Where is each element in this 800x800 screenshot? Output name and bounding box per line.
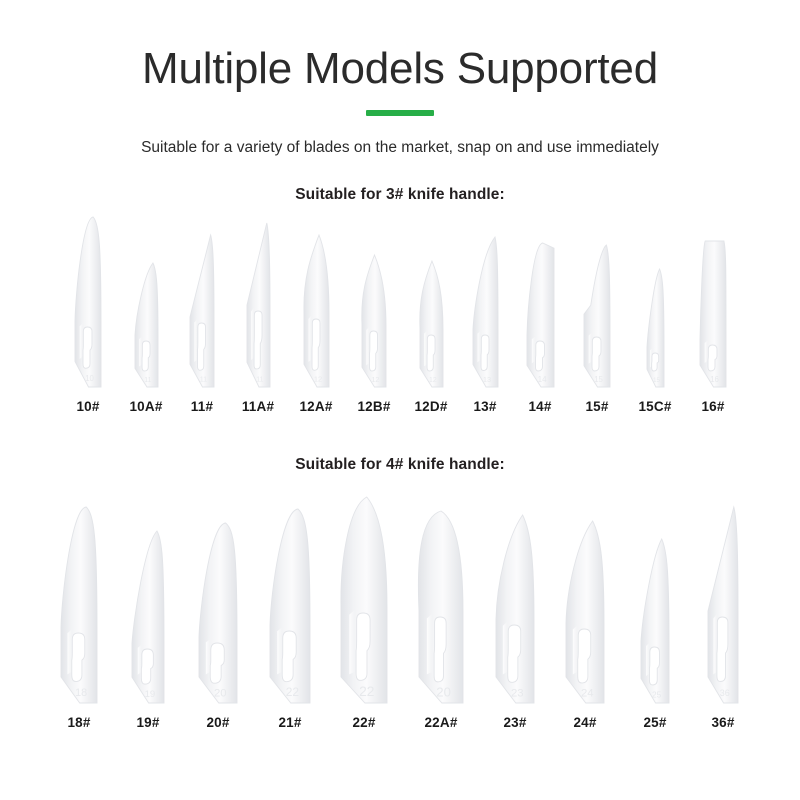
blade-item-14: 14 <box>511 214 569 390</box>
blade-highlight <box>206 639 211 674</box>
blade-item-22: 22 <box>326 484 402 706</box>
blade-highlight <box>277 627 282 674</box>
blade-engraved-number: 12 <box>371 375 379 384</box>
blade-label: 22A# <box>402 715 480 730</box>
blade-engraved-number: 11 <box>200 375 207 384</box>
blade-engraved-number: 18 <box>75 687 87 699</box>
blade-label: 15C# <box>625 399 685 414</box>
blade-item-16: 16 <box>685 214 741 390</box>
blade-highlight <box>646 643 649 676</box>
blade-item-10: 10 <box>59 214 117 390</box>
blade-graphic: 12 <box>359 252 389 390</box>
blade-item-23: 23 <box>480 484 550 706</box>
blade-label: 12B# <box>345 399 403 414</box>
blade-label: 20# <box>182 715 254 730</box>
blade-label: 10A# <box>117 399 175 414</box>
blade-highlight <box>67 629 71 674</box>
blade-highlight <box>705 340 708 362</box>
blade-item-19: 19 <box>114 484 182 706</box>
blade-engraved-number: 19 <box>145 689 156 700</box>
blade-engraved-number: 15 <box>653 378 660 384</box>
blade-graphic: 19 <box>129 528 167 706</box>
section-handle-3: Suitable for 3# knife handle: 10 <box>0 186 800 414</box>
blade-graphic: 11 <box>187 232 217 390</box>
blade-engraved-number: 16 <box>710 375 719 384</box>
blade-graphic: 13 <box>470 234 501 390</box>
blade-label: 22# <box>326 715 402 730</box>
blade-graphic: 20 <box>196 520 240 706</box>
blade-graphic: 22 <box>338 494 390 706</box>
blade-engraved-number: 12 <box>313 375 321 384</box>
blade-graphic: 11 <box>244 220 273 390</box>
blade-label-row: 18#19#20#21#22#22A#23#24#25#36# <box>0 715 800 730</box>
blade-graphic: 20 <box>416 508 466 706</box>
blade-item-20: 20 <box>182 484 254 706</box>
page-title: Multiple Models Supported <box>0 46 800 92</box>
accent-divider <box>366 110 434 116</box>
blade-graphic: 16 <box>697 238 729 390</box>
blade-highlight <box>503 622 508 675</box>
blade-highlight <box>531 337 534 364</box>
blade-engraved-number: 14 <box>537 375 547 384</box>
blade-engraved-number: 23 <box>511 687 524 699</box>
blade-highlight <box>251 307 254 359</box>
blade-item-12b: 12 <box>345 214 403 390</box>
blade-engraved-number: 24 <box>581 688 594 700</box>
blade-graphic: 25 <box>638 536 672 706</box>
blade-item-36: 36 <box>690 484 756 706</box>
page-header: Multiple Models Supported Suitable for a… <box>0 0 800 158</box>
blade-row: 10 11 <box>0 214 800 390</box>
blade-item-11a: 11 <box>229 214 287 390</box>
infographic-page: Multiple Models Supported Suitable for a… <box>0 0 800 800</box>
blade-label: 25# <box>620 715 690 730</box>
blade-engraved-number: 25 <box>652 689 662 699</box>
blade-engraved-number: 22 <box>286 685 300 699</box>
blade-row: 18 19 <box>0 484 800 706</box>
blade-label: 12D# <box>403 399 459 414</box>
blade-highlight <box>573 625 578 674</box>
blade-engraved-number: 13 <box>482 375 490 384</box>
section-heading: Suitable for 4# knife handle: <box>0 456 800 474</box>
blade-item-15: 15 <box>569 214 625 390</box>
blade-item-22a: 20 <box>402 484 480 706</box>
blade-item-12d: 12 <box>403 214 459 390</box>
blade-engraved-number: 11 <box>144 377 151 384</box>
blade-label: 24# <box>550 715 620 730</box>
blade-highlight <box>139 337 142 367</box>
blade-graphic: 14 <box>524 240 557 390</box>
blade-graphic: 15 <box>581 242 613 390</box>
blade-graphic: 24 <box>563 518 607 706</box>
blade-highlight <box>194 319 197 362</box>
blade-graphic: 22 <box>267 506 313 706</box>
blade-graphic: 10 <box>72 214 104 390</box>
blade-label-row: 10#10A#11#11A#12A#12B#12D#13#14#15#15C#1… <box>0 399 800 414</box>
blade-graphic: 18 <box>58 504 100 706</box>
section-handle-4: Suitable for 4# knife handle: 18 <box>0 456 800 730</box>
blade-engraved-number: 10 <box>85 374 94 383</box>
blade-highlight <box>427 614 432 675</box>
blade-graphic: 36 <box>705 504 741 706</box>
blade-highlight <box>366 327 369 365</box>
blade-item-13: 13 <box>459 214 511 390</box>
blade-item-10a: 11 <box>117 214 175 390</box>
blade-label: 10# <box>59 399 117 414</box>
blade-engraved-number: 11 <box>256 376 263 383</box>
blade-highlight <box>589 333 592 364</box>
blade-label: 11A# <box>229 399 287 414</box>
blade-graphic: 12 <box>301 232 332 390</box>
blade-highlight <box>349 610 355 675</box>
blade-label: 14# <box>511 399 569 414</box>
blade-graphic: 23 <box>493 512 537 706</box>
blade-graphic: 15 <box>644 266 667 390</box>
blade-item-25: 25 <box>620 484 690 706</box>
blade-label: 18# <box>44 715 114 730</box>
blade-item-11: 11 <box>175 214 229 390</box>
blade-graphic: 11 <box>132 260 161 390</box>
blade-item-12a: 12 <box>287 214 345 390</box>
blade-label: 21# <box>254 715 326 730</box>
blade-label: 11# <box>175 399 229 414</box>
blade-highlight <box>308 315 311 362</box>
blade-engraved-number: 15 <box>594 375 603 384</box>
blade-graphic: 12 <box>417 258 446 390</box>
blade-item-21: 22 <box>254 484 326 706</box>
blade-item-15c: 15 <box>625 214 685 390</box>
blade-label: 12A# <box>287 399 345 414</box>
blade-label: 13# <box>459 399 511 414</box>
blade-label: 23# <box>480 715 550 730</box>
blade-label: 16# <box>685 399 741 414</box>
blade-label: 15# <box>569 399 625 414</box>
blade-highlight <box>477 331 480 363</box>
blade-engraved-number: 12 <box>429 377 437 384</box>
blade-engraved-number: 22 <box>359 684 374 699</box>
blade-engraved-number: 20 <box>436 684 451 699</box>
blade-highlight <box>80 323 83 359</box>
blade-highlight <box>424 331 427 366</box>
blade-label: 36# <box>690 715 756 730</box>
blade-item-18: 18 <box>44 484 114 706</box>
blade-engraved-number: 36 <box>720 688 730 698</box>
blade-engraved-number: 20 <box>214 688 227 700</box>
blade-item-24: 24 <box>550 484 620 706</box>
blade-label: 19# <box>114 715 182 730</box>
blade-strip: 10 11 <box>0 214 800 414</box>
page-subtitle: Suitable for a variety of blades on the … <box>0 138 800 158</box>
blade-strip: 18 19 <box>0 484 800 730</box>
section-heading: Suitable for 3# knife handle: <box>0 186 800 204</box>
